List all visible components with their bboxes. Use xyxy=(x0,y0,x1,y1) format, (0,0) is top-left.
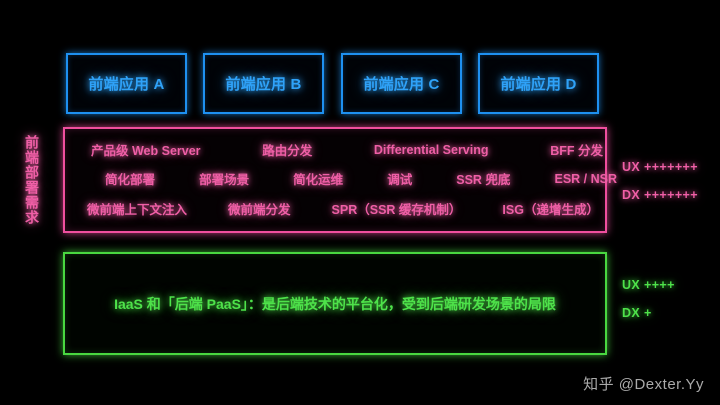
backend-dx-rating: DX + xyxy=(622,306,652,320)
app-box-b: 前端应用 B xyxy=(203,53,324,114)
frontend-ux-rating: UX +++++++ xyxy=(622,160,698,174)
frontend-deployment-layer: 产品级 Web Server 路由分发 Differential Serving… xyxy=(63,127,607,233)
capability-deployment-scenarios: 部署场景 xyxy=(199,169,249,188)
capability-differential-serving: Differential Serving xyxy=(374,143,489,157)
diagram-canvas: 前端应用 A 前端应用 B 前端应用 C 前端应用 D 前端部署需求 产品级 W… xyxy=(0,0,720,405)
capability-isg-incremental-generation: ISG（递增生成） xyxy=(502,199,599,218)
app-box-a: 前端应用 A xyxy=(66,53,187,114)
capability-ssr-fallback: SSR 兜底 xyxy=(456,169,510,188)
app-box-c-label: 前端应用 C xyxy=(363,73,439,94)
capability-spr-ssr-cache: SPR（SSR 缓存机制） xyxy=(332,199,462,218)
frontend-layer-row-2: 简化部署 部署场景 简化运维 调试 SSR 兜底 ESR / NSR xyxy=(79,169,629,188)
zhihu-watermark: 知乎 @Dexter.Yy xyxy=(583,373,704,394)
app-box-d: 前端应用 D xyxy=(478,53,599,114)
app-box-b-label: 前端应用 B xyxy=(225,73,301,94)
capability-routing-distribution: 路由分发 xyxy=(262,140,312,159)
backend-layer-text: IaaS 和「后端 PaaS」：是后端技术的平台化，受到后端研发场景的局限 xyxy=(114,294,556,314)
capability-micro-frontend-context-injection: 微前端上下文注入 xyxy=(87,199,187,218)
vertical-label-text: 前端部署需求 xyxy=(25,135,39,225)
frontend-layer-row-3: 微前端上下文注入 微前端分发 SPR（SSR 缓存机制） ISG（递增生成） xyxy=(79,199,623,218)
app-box-d-label: 前端应用 D xyxy=(500,73,576,94)
app-box-a-label: 前端应用 A xyxy=(88,73,164,94)
frontend-layer-row-1: 产品级 Web Server 路由分发 Differential Serving… xyxy=(79,140,621,159)
frontend-deployment-requirements-label: 前端部署需求 xyxy=(19,128,45,232)
app-box-c: 前端应用 C xyxy=(341,53,462,114)
backend-platform-layer: IaaS 和「后端 PaaS」：是后端技术的平台化，受到后端研发场景的局限 xyxy=(63,252,607,355)
capability-debugging: 调试 xyxy=(387,169,412,188)
frontend-dx-rating: DX +++++++ xyxy=(622,188,698,202)
capability-simplified-ops: 简化运维 xyxy=(293,169,343,188)
backend-ux-rating: UX ++++ xyxy=(622,278,675,292)
capability-bff-distribution: BFF 分发 xyxy=(550,140,603,159)
capability-product-web-server: 产品级 Web Server xyxy=(91,140,201,159)
capability-simplified-deployment: 简化部署 xyxy=(105,169,155,188)
capability-esr-nsr: ESR / NSR xyxy=(554,172,617,186)
capability-micro-frontend-distribution: 微前端分发 xyxy=(228,199,291,218)
